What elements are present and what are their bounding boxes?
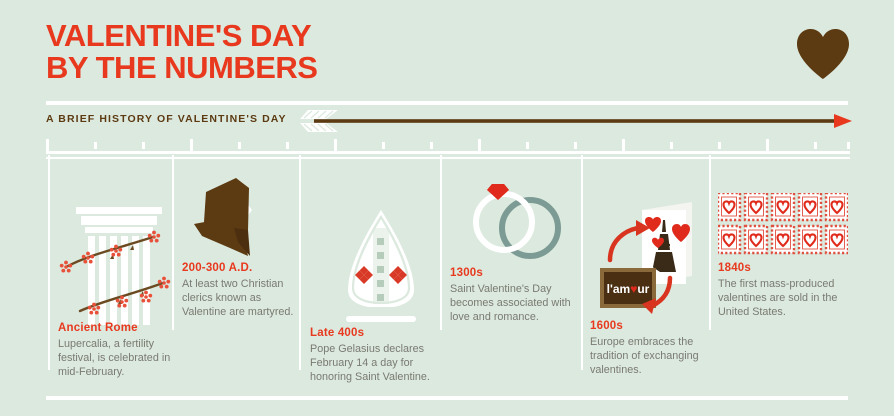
heart-icon: [795, 28, 851, 80]
timeline-entry: Late 400s Pope Gelasius declares Februar…: [310, 327, 450, 385]
timeline-entry: 200-300 A.D. At least two Christian cler…: [182, 262, 294, 320]
entry-year: Ancient Rome: [58, 322, 176, 334]
heart-stamps-grid-icon: [718, 193, 848, 257]
timeline-rule-secondary: [46, 157, 850, 159]
page-title-line-2: BY THE NUMBERS: [46, 52, 566, 84]
entry-description: Pope Gelasius declares February 14 a day…: [310, 342, 450, 385]
entry-description: The first mass-produced valentines are s…: [718, 277, 854, 320]
timeline-entry: 1300s Saint Valentine's Day becomes asso…: [450, 267, 580, 325]
entry-description: At least two Christian clerics known as …: [182, 277, 294, 320]
header-divider: [46, 101, 848, 105]
hooded-cleric-profile-icon: [186, 176, 276, 260]
svg-text:l'am♥ur: l'am♥ur: [607, 282, 650, 296]
timeline-entry: Ancient Rome Lupercalia, a fertility fes…: [58, 322, 176, 380]
entry-description: Lupercalia, a fertility festival, is cel…: [58, 337, 176, 380]
card-label-start: l'am: [607, 282, 631, 296]
timeline-ruler: [46, 139, 850, 151]
greek-column-with-flowering-vines-icon: [58, 205, 180, 325]
timeline-entry: 1600s Europe embraces the tradition of e…: [590, 320, 714, 378]
card-label-end: ur: [637, 282, 649, 296]
entry-year: 1300s: [450, 267, 580, 279]
entry-year: 1600s: [590, 320, 714, 332]
section-subtitle: A BRIEF HISTORY OF VALENTINE'S DAY: [46, 113, 287, 125]
arrow-icon: [300, 108, 852, 134]
section-divider: [299, 155, 301, 370]
section-divider: [581, 155, 583, 370]
entry-year: 200-300 A.D.: [182, 262, 294, 274]
section-divider: [709, 155, 711, 330]
section-divider: [48, 155, 50, 370]
footer-divider: [46, 396, 848, 400]
papal-mitre-icon: [340, 208, 422, 322]
lamour-card-icon: l'am♥ur: [596, 198, 702, 320]
section-divider: [440, 155, 442, 330]
timeline-entry: 1840s The first mass-produced valentines…: [718, 262, 854, 320]
entry-description: Europe embraces the tradition of exchang…: [590, 335, 714, 378]
entry-year: 1840s: [718, 262, 854, 274]
page-title-line-1: VALENTINE'S DAY: [46, 18, 311, 53]
wedding-rings-icon: [468, 180, 572, 266]
page-title: VALENTINE'S DAY BY THE NUMBERS: [46, 20, 566, 84]
infographic-canvas: VALENTINE'S DAY BY THE NUMBERS A BRIEF H…: [0, 0, 894, 416]
entry-year: Late 400s: [310, 327, 450, 339]
entry-description: Saint Valentine's Day becomes associated…: [450, 282, 580, 325]
timeline-rule: [46, 151, 850, 154]
